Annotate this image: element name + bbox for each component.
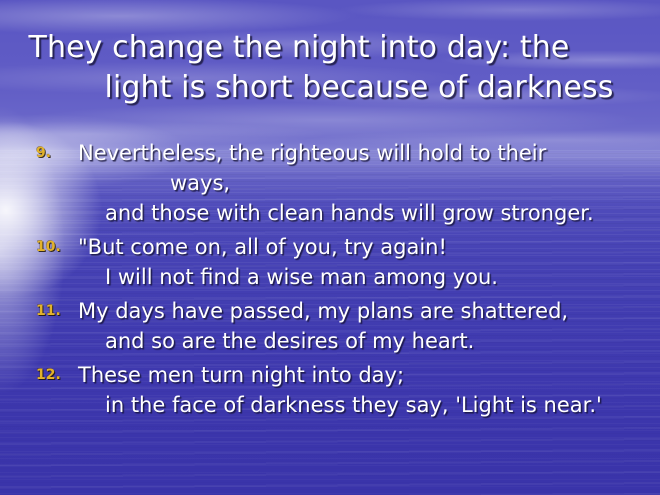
verse-number: 10.: [36, 232, 70, 262]
verse-line: These men turn night into day;: [0, 360, 660, 390]
verse-line: ways,: [0, 168, 660, 198]
verse-item: 12. These men turn night into day; in th…: [0, 360, 660, 420]
verse-text: Nevertheless, the righteous will hold to…: [0, 138, 660, 228]
verse-item: 10. "But come on, all of you, try again!…: [0, 232, 660, 292]
verse-line: My days have passed, my plans are shatte…: [0, 296, 660, 326]
verse-line: I will not find a wise man among you.: [0, 262, 660, 292]
verse-item: 9. Nevertheless, the righteous will hold…: [0, 138, 660, 228]
verse-list: 9. Nevertheless, the righteous will hold…: [0, 138, 660, 424]
verse-line: Nevertheless, the righteous will hold to…: [0, 138, 660, 168]
verse-text: These men turn night into day; in the fa…: [0, 360, 660, 420]
verse-line: and so are the desires of my heart.: [0, 326, 660, 356]
verse-text: My days have passed, my plans are shatte…: [0, 296, 660, 356]
verse-number: 11.: [36, 296, 70, 326]
verse-text: "But come on, all of you, try again! I w…: [0, 232, 660, 292]
slide-title: They change the night into day: the ligh…: [0, 28, 660, 108]
verse-number: 12.: [36, 360, 70, 390]
verse-item: 11. My days have passed, my plans are sh…: [0, 296, 660, 356]
slide-title-line-1: They change the night into day: the: [0, 28, 660, 68]
verse-line: and those with clean hands will grow str…: [0, 198, 660, 228]
presentation-slide: They change the night into day: the ligh…: [0, 0, 660, 495]
verse-line: in the face of darkness they say, 'Light…: [0, 390, 660, 420]
verse-line: "But come on, all of you, try again!: [0, 232, 660, 262]
verse-number: 9.: [36, 138, 70, 168]
slide-title-line-2: light is short because of darkness: [0, 68, 660, 108]
